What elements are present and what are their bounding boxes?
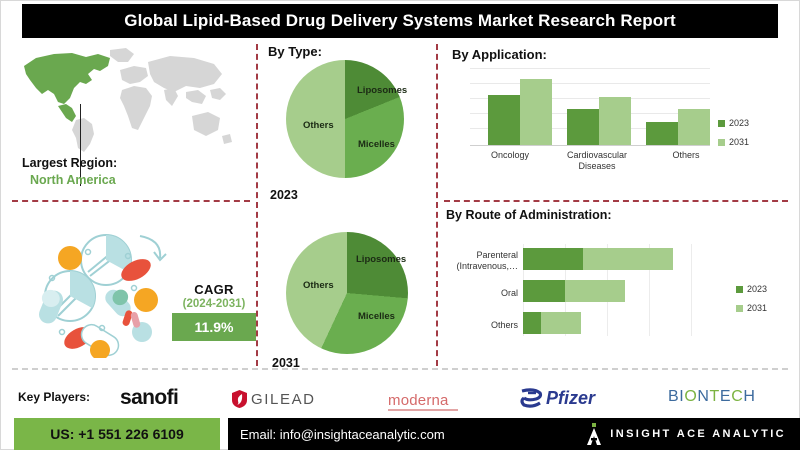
by-route-legend: 2023 2031 — [736, 284, 767, 322]
bar-parenteral-2023 — [523, 248, 583, 270]
legend-label-2023: 2023 — [729, 118, 749, 128]
largest-region-label: Largest Region: — [22, 156, 117, 170]
pie-2023-slice-label-others: Others — [303, 120, 334, 131]
bar-cardiovascular-2031 — [599, 97, 631, 145]
legend-item-2031-route: 2031 — [736, 303, 767, 313]
bar-others-2031 — [678, 109, 710, 145]
cagr-panel: CAGR (2024-2031) 11.9% — [172, 282, 256, 341]
legend-swatch-2023-route — [736, 286, 743, 293]
divider-horizontal-left — [12, 200, 250, 202]
logo-biontech: BIONTECH — [668, 388, 756, 406]
bar-others-route — [523, 312, 581, 334]
logo-biontech-part3: N — [697, 388, 709, 405]
bar-oral-2031 — [565, 280, 625, 302]
legend-label-2031-route: 2031 — [747, 303, 767, 313]
pills-illustration — [18, 228, 198, 358]
bar-oral — [523, 280, 625, 302]
logo-biontech-part1: BI — [668, 388, 684, 405]
divider-vertical-right — [436, 44, 438, 366]
pie-year-2031: 2031 — [272, 356, 300, 370]
footer-email-text[interactable]: Email: info@insightaceanalytic.com — [240, 427, 445, 442]
bar-oncology-2031 — [520, 79, 552, 145]
gilead-shield-icon — [232, 390, 247, 408]
largest-region-panel — [8, 44, 238, 194]
page-title: Global Lipid-Based Drug Delivery Systems… — [124, 11, 675, 31]
pie-2031-slice-label-liposomes: Liposomes — [356, 254, 406, 265]
footer-phone-text: US: +1 551 226 6109 — [50, 426, 184, 442]
logo-moderna: moderna — [388, 392, 449, 409]
pie-year-2023: 2023 — [270, 188, 298, 202]
by-route-title: By Route of Administration: — [446, 208, 612, 222]
legend-item-2023-route: 2023 — [736, 284, 767, 294]
route-category-label-oral: Oral — [440, 288, 518, 299]
by-route-chart — [523, 244, 733, 336]
bar-cardiovascular-2023 — [567, 109, 599, 145]
app-category-label-cardiovascular: Cardiovascular Diseases — [551, 150, 643, 172]
pie-2031-slice-label-others: Others — [303, 280, 334, 291]
app-category-label-others: Others — [650, 150, 722, 161]
logo-pfizer: Pfizer — [518, 387, 595, 409]
logo-biontech-part6: C — [731, 388, 743, 405]
footer-contact-bar: Email: info@insightaceanalytic.com INSIG… — [228, 418, 800, 450]
insight-ace-logo-icon — [586, 423, 602, 445]
bar-parenteral — [523, 248, 673, 270]
key-players-label: Key Players: — [18, 390, 90, 404]
pie-2031-slice-label-micelles: Micelles — [358, 311, 395, 322]
logo-biontech-part7: H — [743, 388, 755, 405]
footer-bar: US: +1 551 226 6109 Email: info@insighta… — [0, 418, 800, 450]
bar-others-2023 — [646, 122, 678, 145]
cagr-value: 11.9% — [172, 313, 256, 341]
cagr-label: CAGR — [172, 282, 256, 297]
footer-brand-text: INSIGHT ACE ANALYTIC — [610, 428, 786, 440]
logo-sanofi: sanofi — [120, 386, 178, 410]
logo-gilead-text: GILEAD — [251, 391, 316, 408]
divider-horizontal-right — [444, 200, 788, 202]
bar-parenteral-2031 — [583, 248, 673, 270]
title-bar: Global Lipid-Based Drug Delivery Systems… — [22, 4, 778, 38]
bar-others-route-2031 — [541, 312, 581, 334]
legend-swatch-2023 — [718, 120, 725, 127]
by-type-title: By Type: — [268, 44, 322, 59]
gridline — [470, 83, 710, 84]
bar-oncology-2023 — [488, 95, 520, 145]
app-category-label-oncology: Oncology — [466, 150, 554, 161]
pills-illustration-icon — [18, 228, 198, 358]
logo-biontech-part2: O — [684, 388, 697, 405]
footer-brand: INSIGHT ACE ANALYTIC — [586, 423, 786, 445]
legend-item-2031: 2031 — [718, 137, 749, 147]
by-application-legend: 2023 2031 — [718, 118, 749, 156]
legend-swatch-2031 — [718, 139, 725, 146]
gridline — [470, 68, 710, 69]
moderna-underline — [388, 409, 458, 411]
pie-chart-2023 — [286, 60, 404, 178]
pfizer-helix-icon — [518, 387, 544, 409]
footer-phone[interactable]: US: +1 551 226 6109 — [14, 418, 220, 450]
route-category-label-others: Others — [440, 320, 518, 331]
largest-region-value: North America — [30, 173, 116, 187]
pie-chart-2031 — [286, 232, 408, 354]
vertical-gridline — [691, 244, 692, 336]
bar-oral-2023 — [523, 280, 565, 302]
cagr-period: (2024-2031) — [172, 298, 256, 310]
legend-label-2023-route: 2023 — [747, 284, 767, 294]
logo-biontech-part5: E — [720, 388, 731, 405]
route-category-label-parenteral: Parenteral (Intravenous,… — [440, 250, 518, 272]
pie-2023-slice-label-liposomes: Liposomes — [357, 85, 407, 96]
x-axis-line — [470, 145, 710, 146]
legend-item-2023: 2023 — [718, 118, 749, 128]
logo-pfizer-text: Pfizer — [546, 388, 595, 409]
legend-label-2031: 2031 — [729, 137, 749, 147]
pie-2023-slice-label-micelles: Micelles — [358, 139, 395, 150]
bar-others-route-2023 — [523, 312, 541, 334]
divider-vertical-left — [256, 44, 258, 366]
divider-horizontal-bottom — [12, 368, 788, 370]
legend-swatch-2031-route — [736, 305, 743, 312]
by-application-title: By Application: — [452, 47, 547, 62]
by-application-chart — [470, 68, 710, 146]
world-map-icon — [14, 44, 236, 156]
logo-biontech-part4: T — [710, 388, 720, 405]
logo-gilead: GILEAD — [232, 390, 316, 408]
